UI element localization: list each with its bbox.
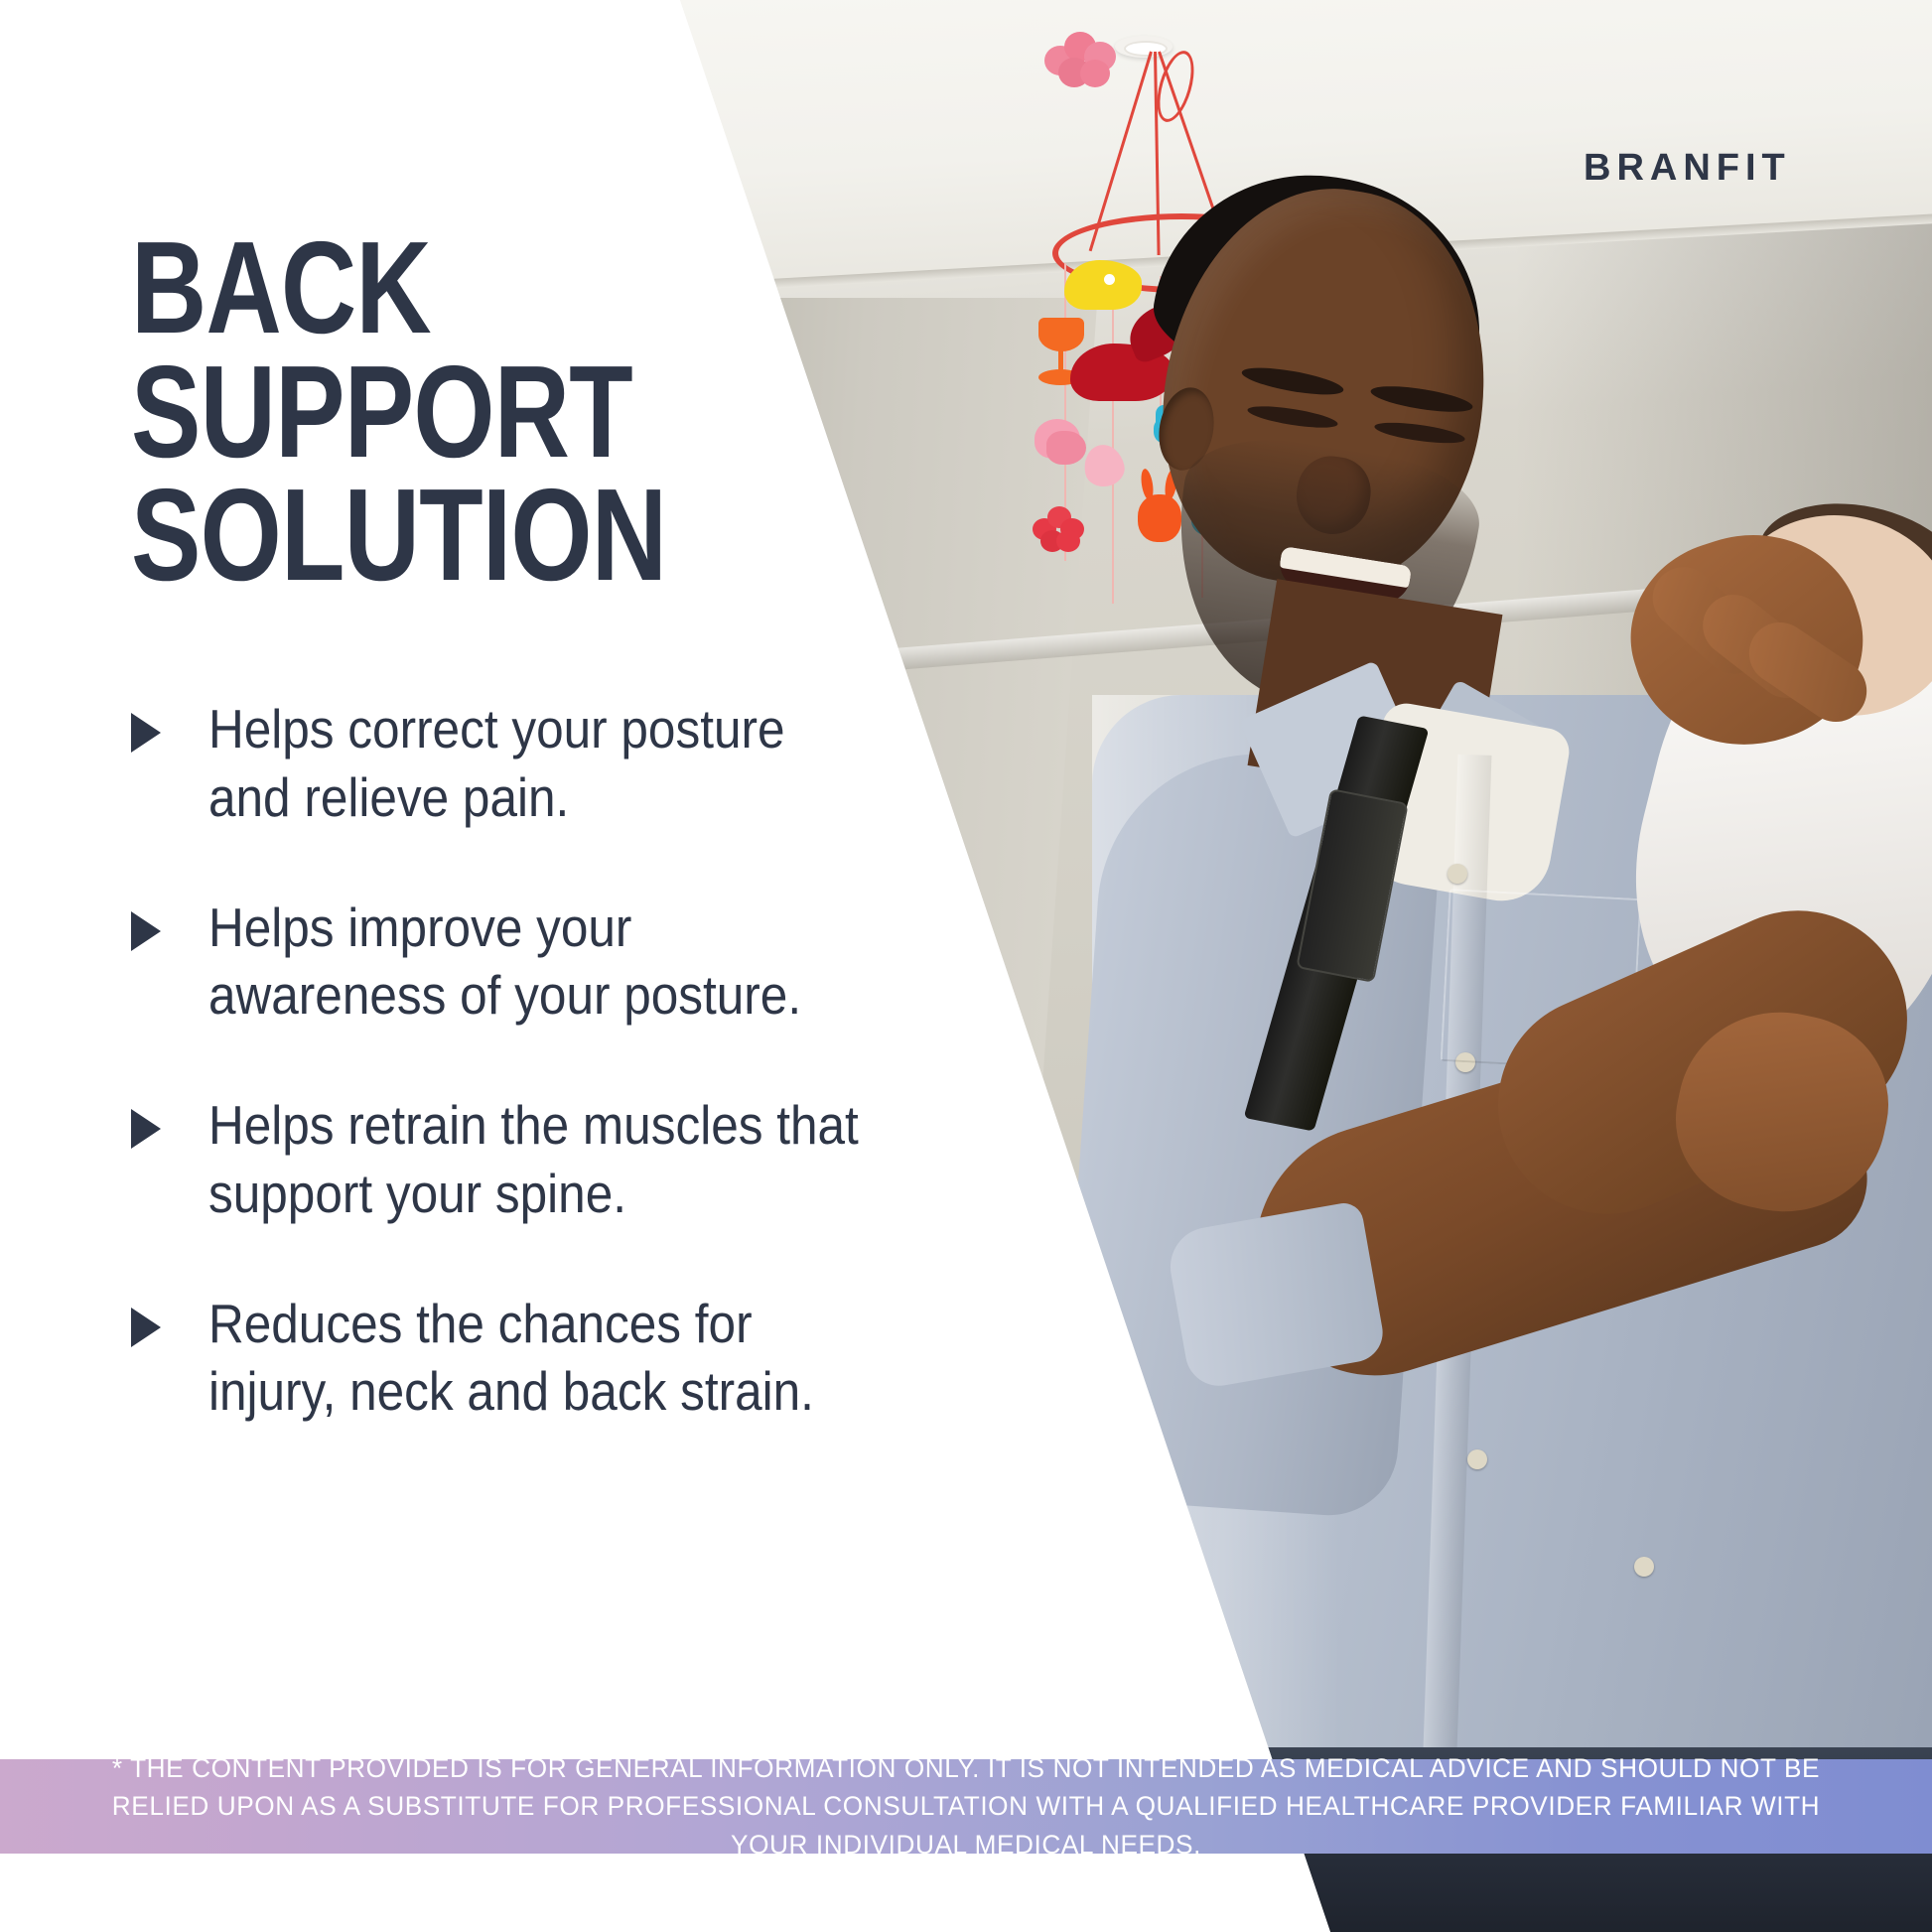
list-item: Helps improve your awareness of your pos… — [131, 894, 945, 1031]
triangle-right-icon — [131, 713, 161, 753]
list-item-label: Helps retrain the muscles that support y… — [208, 1091, 872, 1228]
benefits-list: Helps correct your posture and relieve p… — [131, 695, 945, 1487]
triangle-right-icon — [131, 1109, 161, 1149]
list-item: Helps correct your posture and relieve p… — [131, 695, 945, 832]
page-title: BACK SUPPORT SOLUTION — [131, 226, 639, 596]
shirt-rolled-cuff — [1165, 1200, 1388, 1391]
shirt-button — [1467, 1449, 1487, 1469]
shirt-button — [1448, 864, 1467, 884]
triangle-right-icon — [131, 911, 161, 951]
disclaimer-bar: * THE CONTENT PROVIDED IS FOR GENERAL IN… — [0, 1759, 1932, 1854]
triangle-right-icon — [131, 1308, 161, 1347]
list-item-label: Helps correct your posture and relieve p… — [208, 695, 872, 832]
disclaimer-text: * THE CONTENT PROVIDED IS FOR GENERAL IN… — [83, 1749, 1850, 1863]
list-item: Helps retrain the muscles that support y… — [131, 1091, 945, 1228]
ad-creative-canvas: BACK SUPPORT SOLUTION Helps correct your… — [0, 0, 1932, 1932]
shirt-button — [1634, 1557, 1654, 1577]
list-item: Reduces the chances for injury, neck and… — [131, 1290, 945, 1427]
list-item-label: Reduces the chances for injury, neck and… — [208, 1290, 872, 1427]
list-item-label: Helps improve your awareness of your pos… — [208, 894, 872, 1031]
brand-logo: BRANFIT — [1584, 147, 1791, 190]
